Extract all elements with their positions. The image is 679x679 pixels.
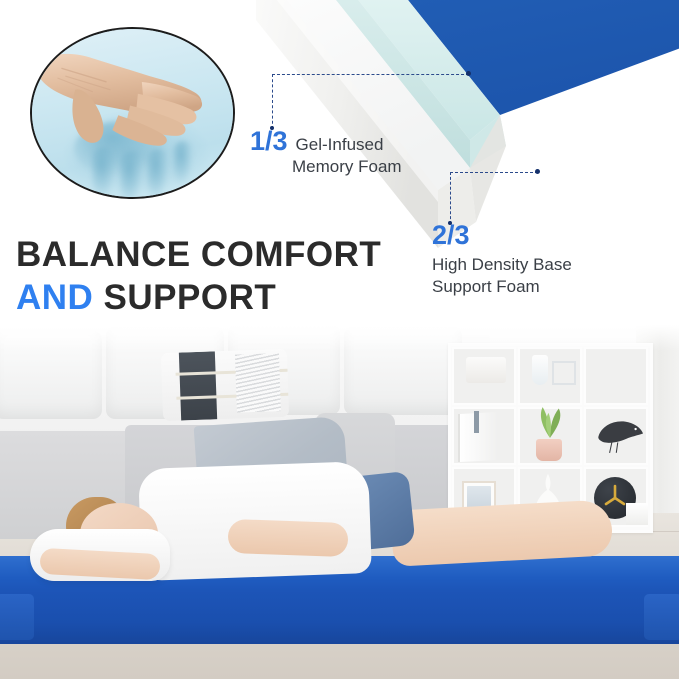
striped-accent-pillow bbox=[161, 349, 289, 421]
person-arm bbox=[227, 519, 348, 557]
shelf-square-frame bbox=[552, 361, 576, 385]
person-legs bbox=[391, 499, 614, 566]
top-info-panel: 1/3 Gel-Infused Memory Foam 2/3 High Den… bbox=[0, 0, 679, 345]
leader-dot-gel-end bbox=[466, 71, 471, 76]
potted-plant-pot bbox=[536, 439, 562, 461]
headline-line-1: BALANCE COMFORT bbox=[16, 234, 486, 277]
callout-gel-infused-memory-foam: 1/3 Gel-Infused Memory Foam bbox=[250, 128, 480, 178]
hand-pressing-foam-inset bbox=[30, 27, 235, 199]
shelf-glass-vase bbox=[532, 355, 548, 385]
shelf-top-clock bbox=[466, 357, 506, 383]
shelf-book-marker bbox=[474, 411, 479, 433]
white-cube-ornament bbox=[626, 503, 648, 525]
shelf-cell-3 bbox=[584, 347, 648, 405]
mattress-corner-left bbox=[0, 594, 34, 640]
headline-accent-word: AND bbox=[16, 278, 93, 317]
callout-gel-fraction: 1/3 bbox=[250, 128, 288, 155]
callout-gel-line1: Gel-Infused bbox=[296, 134, 384, 156]
page-headline: BALANCE COMFORT AND SUPPORT bbox=[16, 234, 486, 319]
lifestyle-bedroom-photo bbox=[0, 325, 679, 679]
callout-gel-line2: Memory Foam bbox=[292, 156, 480, 178]
black-bird-figurine bbox=[594, 409, 646, 461]
mattress-corner-right bbox=[644, 594, 679, 640]
mattress-side-panel bbox=[0, 590, 679, 644]
product-marketing-image: 1/3 Gel-Infused Memory Foam 2/3 High Den… bbox=[0, 0, 679, 679]
headline-line-2: AND SUPPORT bbox=[16, 277, 486, 320]
sofa-cushion-left bbox=[0, 331, 102, 419]
sofa-cushion-far-right bbox=[344, 327, 462, 415]
potted-plant-leaves bbox=[528, 401, 572, 441]
leader-dot-base-end bbox=[535, 169, 540, 174]
hand-graphic bbox=[32, 29, 233, 198]
headline-line-2-rest: SUPPORT bbox=[93, 278, 276, 317]
